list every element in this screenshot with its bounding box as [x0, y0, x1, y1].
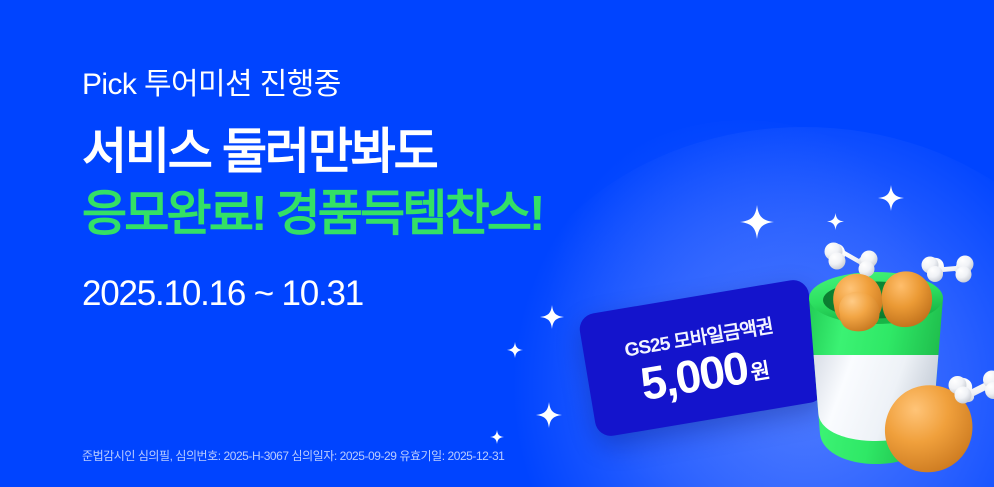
sparkle-small-upper-right-icon	[827, 213, 844, 230]
legal-disclaimer: 준법감시인 심의필, 심의번호: 2025-H-3067 심의일자: 2025-…	[82, 449, 504, 465]
banner-copy: Pick 투어미션 진행중 서비스 둘러만봐도 응모완료! 경품득템찬스! 20…	[82, 66, 543, 315]
promo-banner: Pick 투어미션 진행중 서비스 둘러만봐도 응모완료! 경품득템찬스! 20…	[0, 0, 994, 487]
eyebrow-text: Pick 투어미션 진행중	[82, 66, 543, 104]
event-period: 2025.10.16 ~ 10.31	[82, 273, 543, 315]
chicken-bone-top-right	[922, 256, 974, 283]
chicken-bone-top-left	[825, 243, 878, 278]
sparkle-large-upper-right-icon	[740, 205, 774, 239]
fried-chicken-bucket-illustration	[790, 238, 994, 487]
headline-primary: 서비스 둘러만봐도	[82, 124, 543, 181]
coupon-currency-unit: 원	[749, 360, 771, 384]
sparkle-medium-lower-center-icon	[536, 402, 562, 428]
sparkle-small-center-left-icon	[507, 342, 523, 358]
sparkle-small-lower-left-icon	[490, 430, 504, 444]
sparkle-medium-center-icon	[540, 305, 564, 329]
sparkle-medium-top-right-icon	[878, 185, 904, 211]
headline-accent: 응모완료! 경품득템찬스!	[82, 186, 543, 243]
